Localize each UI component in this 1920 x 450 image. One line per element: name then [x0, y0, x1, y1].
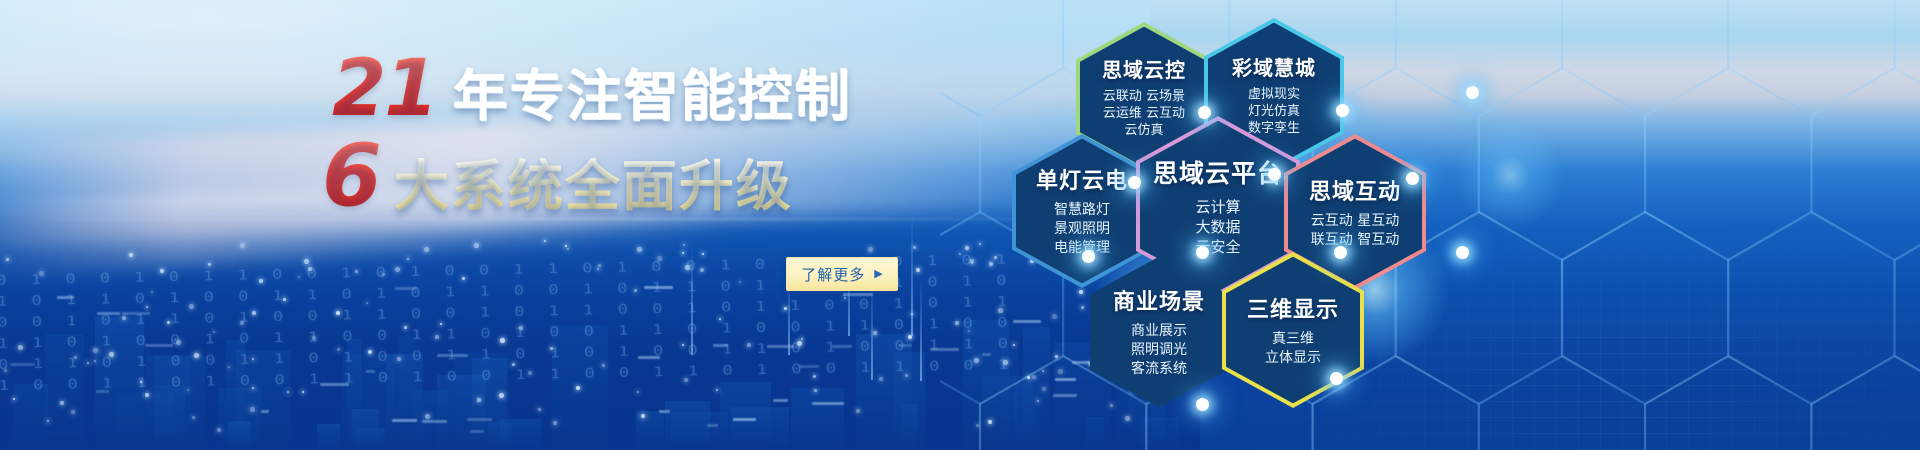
hexagon-title: 商业场景 [1113, 284, 1205, 316]
hexagon-title: 思域互动 [1309, 174, 1401, 206]
hexagon-items: 真三维立体显示 [1265, 330, 1321, 368]
hexagon-item: 云互动 星互动 [1311, 212, 1399, 231]
hexagon-item: 客流系统 [1131, 360, 1187, 379]
hexagon-items: 智慧路灯景观照明电能管理 [1054, 201, 1110, 258]
hexagon-item: 真三维 [1265, 330, 1321, 349]
network-node [1196, 398, 1209, 411]
hexagon-item: 云联动 云场景 [1103, 88, 1185, 105]
hexagon-item: 云计算 [1195, 197, 1240, 217]
hexagon-title: 思域云平台 [1153, 154, 1283, 190]
hexagon-title: 彩域慧城 [1232, 52, 1316, 81]
hexagon-item: 智慧路灯 [1054, 201, 1110, 220]
hexagon-item: 立体显示 [1265, 349, 1321, 368]
hexagon-item: 电能管理 [1054, 239, 1110, 258]
hexagon-item: 云运维 云互动 [1103, 105, 1185, 122]
hexagon-item: 景观照明 [1054, 220, 1110, 239]
hexagon-item: 灯光仿真 [1248, 103, 1300, 120]
hexagon-item: 照明调光 [1131, 341, 1187, 360]
network-node [1456, 246, 1469, 259]
hexagon-title: 思域云控 [1102, 54, 1186, 83]
hexagon-item: 大数据 [1195, 217, 1240, 237]
hexagon-items: 虚拟现实灯光仿真数字孪生 [1248, 86, 1300, 137]
hexagon-items: 云互动 星互动联互动 智互动 [1311, 212, 1399, 250]
hexagon-cluster: 思域云控云联动 云场景云运维 云互动云仿真彩域慧城虚拟现实灯光仿真数字孪生单灯云… [0, 0, 1920, 450]
hexagon-items: 商业展示照明调光客流系统 [1131, 322, 1187, 379]
hexagon-title: 单灯云电 [1036, 163, 1128, 195]
banner-stage: 0 1 0 0 1 0 1 1 0 0 1 0 1 0 0 1 1 0 1 0 … [0, 0, 1920, 450]
hexagon-item: 虚拟现实 [1248, 86, 1300, 103]
hexagon-item: 联互动 智互动 [1311, 231, 1399, 250]
hexagon-item: 商业展示 [1131, 322, 1187, 341]
hexagon-items: 云联动 云场景云运维 云互动云仿真 [1103, 88, 1185, 139]
hexagon-title: 三维显示 [1247, 292, 1339, 324]
hexagon-item: 云安全 [1195, 237, 1240, 257]
hexagon-item: 云仿真 [1103, 122, 1185, 139]
network-node [1466, 86, 1479, 99]
hexagon-items: 云计算大数据云安全 [1195, 197, 1240, 257]
hexagon-item: 数字孪生 [1248, 120, 1300, 137]
